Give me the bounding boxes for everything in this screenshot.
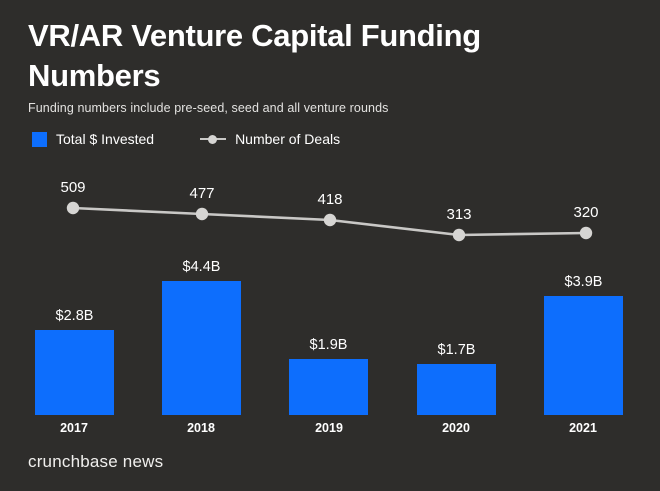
bar-2021[interactable] <box>544 296 623 415</box>
deals-marker-2018[interactable] <box>196 208 208 220</box>
chart-subtitle: Funding numbers include pre-seed, seed a… <box>28 101 628 115</box>
x-tick-label-2018: 2018 <box>187 421 215 435</box>
x-tick-label-2019: 2019 <box>315 421 343 435</box>
deals-marker-2021[interactable] <box>580 227 592 239</box>
bar-value-label-2021: $3.9B <box>565 274 603 290</box>
x-tick-label-2021: 2021 <box>569 421 597 435</box>
bar-swatch-icon <box>32 132 47 147</box>
chart-header: VR/AR Venture Capital Funding Numbers Fu… <box>28 16 628 115</box>
line-marker-icon <box>200 133 226 145</box>
bar-2020[interactable] <box>417 364 496 415</box>
deals-marker-group <box>67 202 592 241</box>
legend-item-total-invested[interactable]: Total $ Invested <box>32 131 154 147</box>
footer-brand: crunchbase news <box>28 452 163 472</box>
bar-2018[interactable] <box>162 281 241 415</box>
bar-value-label-2020: $1.7B <box>438 342 476 358</box>
legend-item-number-of-deals[interactable]: Number of Deals <box>200 131 340 147</box>
deals-line-path <box>73 208 586 235</box>
deals-value-label-2018: 477 <box>189 185 214 202</box>
deals-value-label-2019: 418 <box>317 191 342 208</box>
bar-value-label-2019: $1.9B <box>310 337 348 353</box>
bar-value-label-2017: $2.8B <box>56 308 94 324</box>
deals-marker-2020[interactable] <box>453 229 465 241</box>
chart-page: VR/AR Venture Capital Funding Numbers Fu… <box>0 0 660 491</box>
bar-value-label-2018: $4.4B <box>183 259 221 275</box>
bar-2019[interactable] <box>289 359 368 415</box>
deals-value-label-2021: 320 <box>573 204 598 221</box>
x-tick-label-2020: 2020 <box>442 421 470 435</box>
deals-marker-2019[interactable] <box>324 214 336 226</box>
deals-marker-2017[interactable] <box>67 202 79 214</box>
x-tick-label-2017: 2017 <box>60 421 88 435</box>
deals-value-label-2017: 509 <box>60 179 85 196</box>
bar-2017[interactable] <box>35 330 114 415</box>
chart-legend: Total $ Invested Number of Deals <box>32 131 340 147</box>
legend-label-total-invested: Total $ Invested <box>56 131 154 147</box>
deals-value-label-2020: 313 <box>446 206 471 223</box>
page-title: VR/AR Venture Capital Funding Numbers <box>28 16 508 95</box>
legend-label-number-of-deals: Number of Deals <box>235 131 340 147</box>
